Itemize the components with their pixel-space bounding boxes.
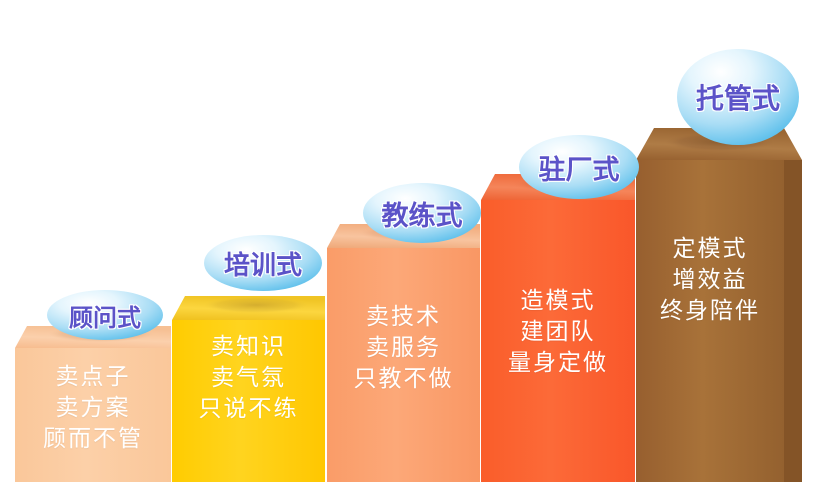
step-top-face-2 <box>172 290 325 320</box>
step-label-text-3: 教练式 <box>362 182 482 244</box>
step-front-face-4 <box>481 200 635 482</box>
step-label-text-4: 驻厂式 <box>518 134 640 200</box>
step-label-balloon-5[interactable]: 托管式 <box>676 48 800 146</box>
step-label-balloon-2[interactable]: 培训式 <box>203 234 323 292</box>
step-label-text-2: 培训式 <box>203 234 323 292</box>
step-block-5: 定模式 增效益 终身陪伴 <box>636 122 802 482</box>
step-label-balloon-4[interactable]: 驻厂式 <box>518 134 640 200</box>
step-front-face-5 <box>636 160 784 482</box>
step-block-3: 卖技术 卖服务 只教不做 <box>327 218 480 482</box>
step-front-face-1 <box>15 348 171 482</box>
step-block-4: 造模式 建团队 量身定做 <box>481 168 635 482</box>
step-block-1: 卖点子 卖方案 顾而不管 <box>15 320 171 482</box>
step-label-text-1: 顾问式 <box>46 289 164 341</box>
step-label-balloon-1[interactable]: 顾问式 <box>46 289 164 341</box>
step-front-face-2 <box>172 320 325 482</box>
step-side-face-5 <box>784 160 802 482</box>
staircase-diagram: 卖点子 卖方案 顾而不管 <box>0 0 819 493</box>
step-label-balloon-3[interactable]: 教练式 <box>362 182 482 244</box>
step-block-2: 卖知识 卖气氛 只说不练 <box>172 290 325 482</box>
step-front-face-3 <box>327 248 480 482</box>
step-label-text-5: 托管式 <box>676 48 800 146</box>
